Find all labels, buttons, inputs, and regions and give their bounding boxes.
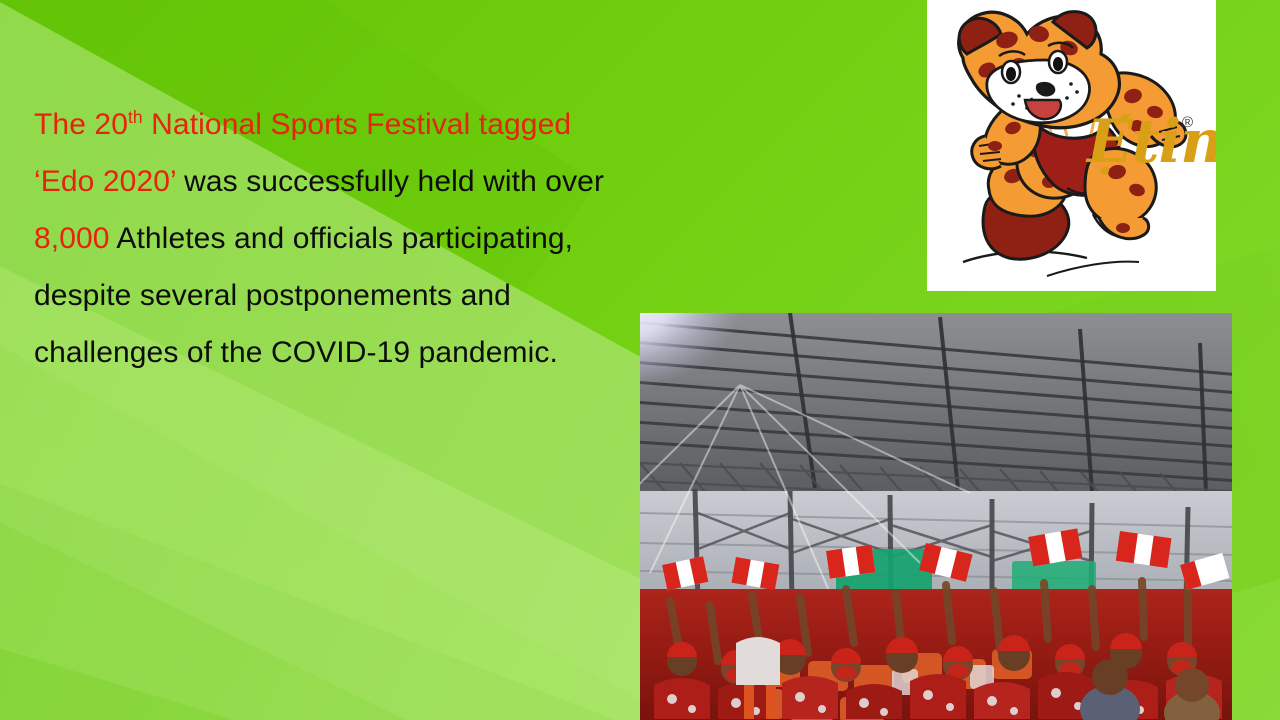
stadium-crowd-photo — [640, 313, 1232, 720]
text-segment-plain-1: was successfully held with over — [176, 165, 604, 198]
photo-content — [640, 313, 1232, 720]
text-superscript-th: th — [128, 107, 143, 127]
text-segment-highlight-1: The 20 — [34, 108, 128, 141]
etin-logo-panel: EDO 2020 — [927, 0, 1216, 291]
etin-wordmark: Ẹ́tin — [1087, 112, 1216, 172]
slide-canvas: The 20th National Sports Festival tagged… — [0, 0, 1280, 720]
text-segment-plain-2: Athletes and officials participating, de… — [34, 222, 573, 369]
registered-trademark-icon: ® — [1182, 114, 1193, 131]
text-segment-highlight-number: 8,000 — [34, 222, 110, 255]
slide-body-text: The 20th National Sports Festival tagged… — [34, 96, 634, 381]
